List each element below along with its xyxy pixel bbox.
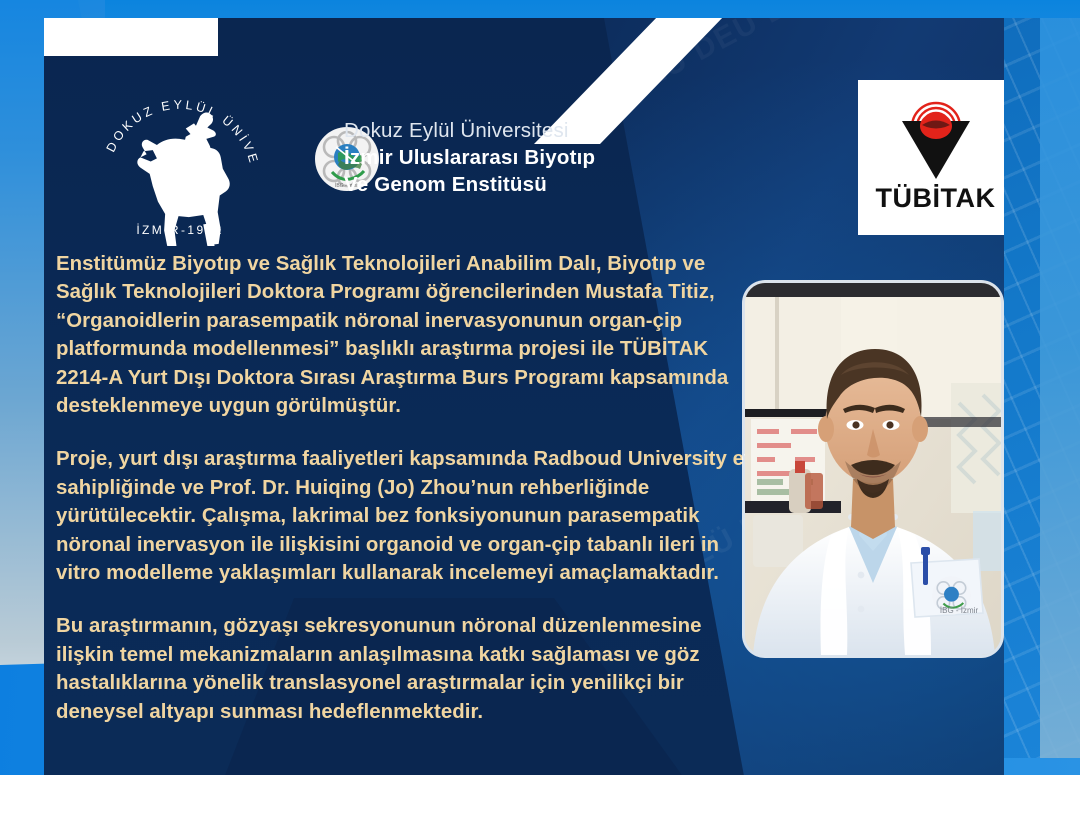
announcement-body: Enstitümüz Biyotıp ve Sağlık Teknolojile…: [56, 250, 756, 726]
paragraph-1: Enstitümüz Biyotıp ve Sağlık Teknolojile…: [56, 250, 756, 420]
institute-line-2: İzmir Uluslararası Biyotıp: [344, 144, 674, 171]
paragraph-2: Proje, yurt dışı araştırma faaliyetleri …: [56, 445, 756, 587]
poster-header: DOKUZ EYLÜL ÜNİVERSİTESİ İZMİR-1982: [44, 18, 1004, 233]
paragraph-3: Bu araştırmanın, gözyaşı sekresyonunun n…: [56, 612, 756, 726]
researcher-portrait-photo: İBG - İzmir: [745, 283, 1001, 655]
institute-line-3: Ve Genom Enstitüsü: [344, 171, 674, 198]
tubitak-triangle-icon: [888, 101, 984, 179]
bottom-white-band: [0, 775, 1080, 823]
right-edge-gradient: [1040, 18, 1080, 758]
institute-name-block: Dokuz Eylül Üniversitesi İzmir Uluslarar…: [344, 118, 674, 198]
coat-badge-caption: İBG - İzmir: [940, 606, 979, 615]
tubitak-logo-card: TÜBİTAK: [858, 80, 1004, 235]
svg-text:İZMİR-1982: İZMİR-1982: [136, 223, 223, 237]
institute-line-1: Dokuz Eylül Üniversitesi: [344, 118, 674, 144]
dokuz-eylul-seal-icon: DOKUZ EYLÜL ÜNİVERSİTESİ İZMİR-1982: [90, 66, 270, 246]
tubitak-wordmark: TÜBİTAK: [876, 183, 996, 214]
poster-canvas: DEÜ DEÜ DEÜ DEÜ DEÜ DEÜ DEÜ DEÜ DEÜ DEÜ …: [0, 0, 1080, 823]
